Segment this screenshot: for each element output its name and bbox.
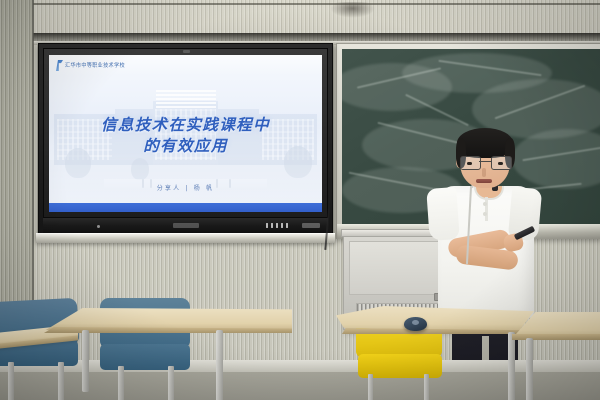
wireless-mouse[interactable] [404,317,427,331]
slide-title-line2: 的有效应用 [49,136,322,156]
smartboard-screen[interactable]: 汇华市中等职业技术学校 [49,55,322,212]
mouse-highlight [412,320,419,325]
smartboard-bezel: 汇华市中等职业技术学校 [43,48,328,218]
desk-left[interactable] [30,308,294,400]
smartboard[interactable]: 汇华市中等职业技术学校 [38,43,333,237]
ceiling-seam [33,3,600,5]
left-wall-edge [32,0,34,332]
slide-title-line1: 信息技术在实践课程中 [49,115,322,135]
placket [485,197,488,221]
control-button[interactable] [266,223,269,228]
slide-footer-bar [49,203,322,212]
left-wall-column [0,0,33,330]
slide-ornament [156,90,216,109]
brand-plate [173,223,199,228]
desk-right[interactable] [492,312,600,400]
control-button[interactable] [286,223,289,228]
presentation-slide: 汇华市中等职业技术学校 [49,55,322,212]
slide-header: 汇华市中等职业技术学校 [49,55,322,76]
school-logo: 汇华市中等职业技术学校 [56,60,125,71]
shirt-button [483,202,487,206]
smartboard-shelf [36,233,335,243]
port-panel [302,223,320,228]
control-button[interactable] [281,223,284,228]
smartboard-control-bar[interactable] [43,218,328,234]
school-emblem-icon [56,60,63,71]
wall-smudge [330,2,375,18]
sleeve-left [426,187,460,241]
slide-presenter-line: 分享人 | 杨 帆 [49,183,322,192]
collar [474,186,504,200]
control-button[interactable] [271,223,274,228]
classroom-photo: 汇华市中等职业技术学校 [0,0,600,400]
shirt-button [483,212,487,216]
power-led-icon [97,225,100,228]
school-name: 汇华市中等职业技术学校 [65,62,125,70]
slide-body: 信息技术在实践课程中 的有效应用 分享人 | 杨 帆 [49,76,322,203]
glasses-icon [460,156,510,169]
control-buttons[interactable] [266,223,289,228]
control-button[interactable] [276,223,279,228]
slide-title: 信息技术在实践课程中 的有效应用 [49,115,322,156]
camera-icon [183,50,190,53]
